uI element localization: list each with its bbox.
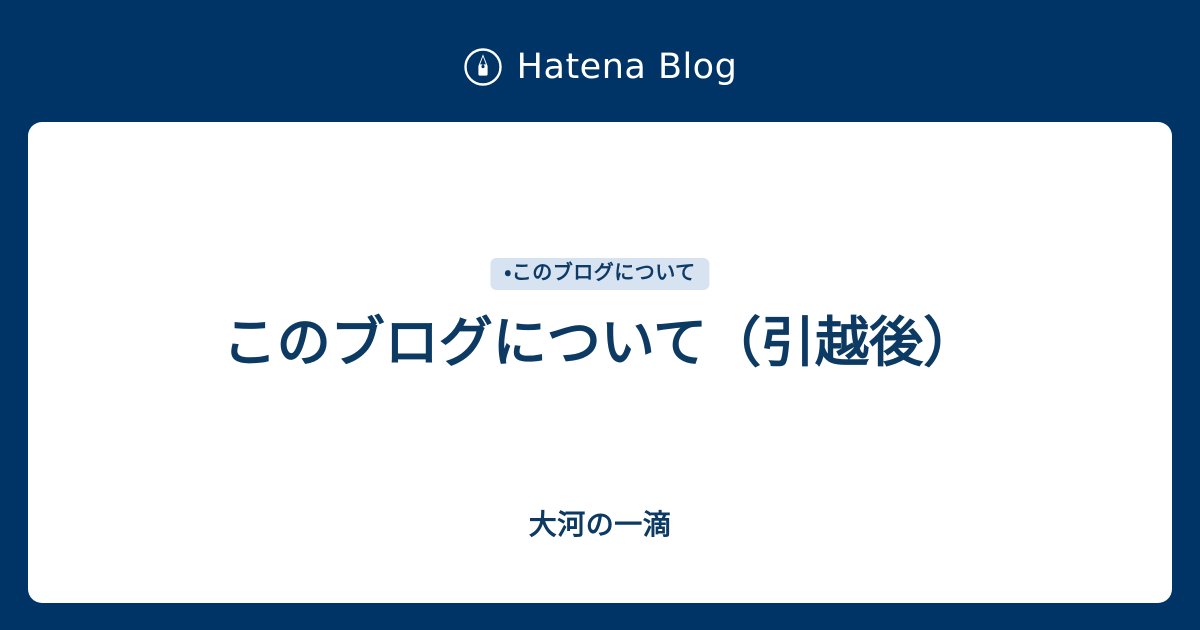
blog-name: 大河の一滴 [28, 507, 1172, 543]
entry-content-card: ・このブログについて このブログについて（引越後） 大河の一滴 [28, 122, 1172, 603]
hatena-blog-wordmark: Hatena Blog [517, 50, 738, 85]
category-badge[interactable]: ・このブログについて [490, 258, 709, 290]
ogp-card-canvas: Hatena Blog ・このブログについて このブログについて（引越後） 大河… [0, 0, 1200, 630]
card-inner: ・このブログについて このブログについて（引越後） 大河の一滴 [28, 122, 1172, 603]
brand-header: Hatena Blog [0, 38, 1200, 96]
entry-title: このブログについて（引越後） [28, 310, 1172, 378]
hatena-pen-nib-icon [463, 47, 503, 87]
